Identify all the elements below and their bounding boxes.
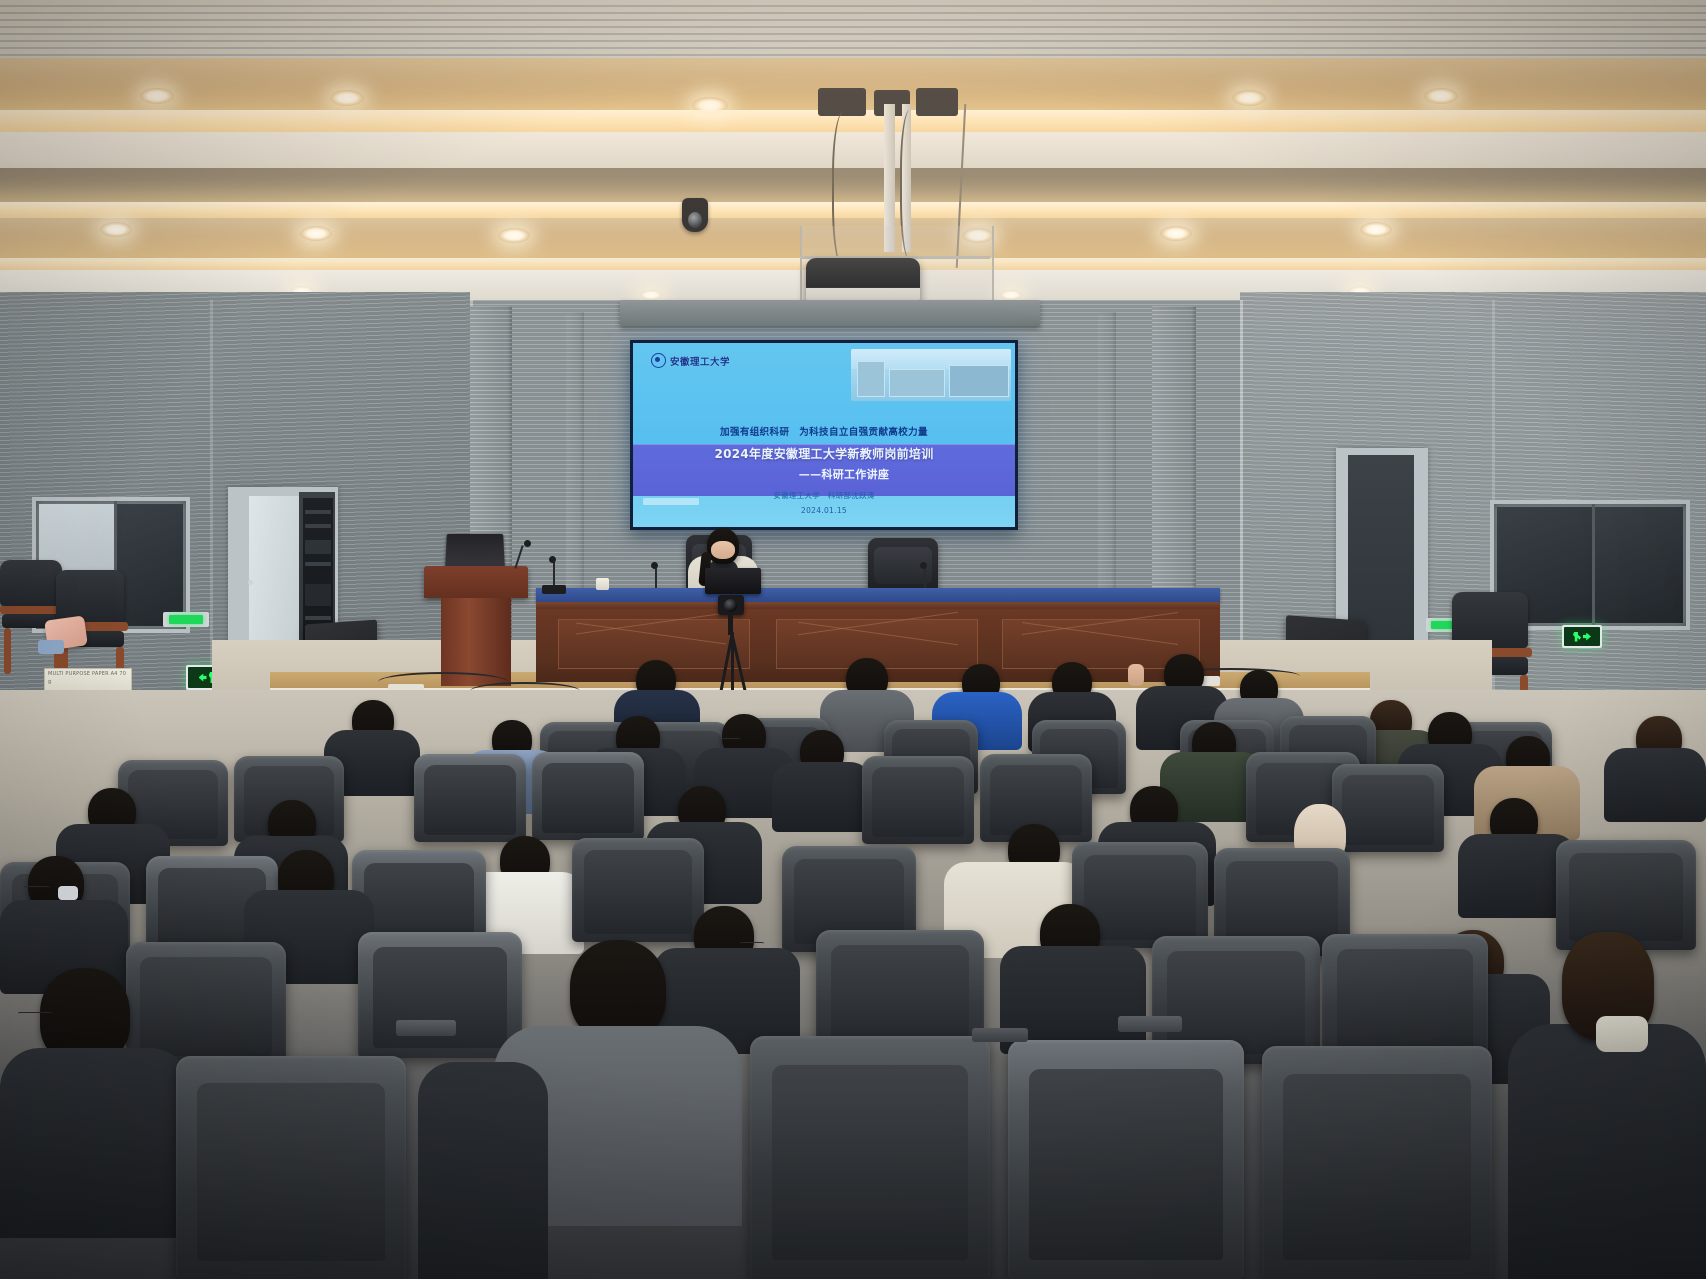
logo-emblem-icon	[651, 353, 666, 368]
auditorium-seat[interactable]	[358, 932, 522, 1058]
logo-text: 安徽理工大学	[670, 354, 730, 368]
audience-body	[772, 762, 872, 832]
downlight	[640, 290, 662, 300]
downlight	[1360, 222, 1392, 237]
desk-microphone	[924, 566, 926, 588]
window-pane	[1595, 507, 1683, 623]
window-pane	[117, 504, 183, 626]
downlight	[100, 222, 132, 237]
auditorium-seat[interactable]	[1332, 764, 1444, 852]
table-cloth-top	[536, 588, 1220, 602]
university-logo: 安徽理工大学	[651, 353, 730, 368]
video-camera	[718, 595, 744, 615]
auditorium-seat[interactable]	[176, 1056, 406, 1279]
slide-tagline: 加强有组织科研 为科技自立自强贡献高校力量	[633, 424, 1015, 438]
auditorium-seat[interactable]	[1262, 1046, 1492, 1279]
table-edge	[536, 602, 1220, 609]
window-mullion	[1592, 504, 1595, 626]
podium-laptop[interactable]	[445, 534, 505, 569]
podium-desk	[424, 566, 528, 598]
face-mask	[58, 886, 78, 900]
auditorium-seat[interactable]	[572, 838, 704, 942]
desk-microphone	[553, 560, 555, 588]
running-man-icon	[1573, 632, 1581, 642]
eyeglasses	[740, 942, 764, 947]
downlight	[1232, 90, 1266, 106]
auditorium-seat[interactable]	[414, 754, 526, 842]
table-chair-right[interactable]	[868, 538, 938, 592]
collar	[1596, 1016, 1648, 1052]
microphone-head-icon	[549, 556, 556, 563]
eyeglasses	[722, 738, 740, 743]
downlight	[330, 90, 364, 106]
microphone-head-icon	[920, 562, 927, 569]
cup	[596, 578, 609, 590]
screen-valance	[620, 300, 1040, 326]
slide-title: 2024年度安徽理工大学新教师岗前培训	[633, 445, 1015, 462]
photo-building	[949, 365, 1009, 397]
wall-seam	[210, 300, 213, 698]
desk-microphone	[655, 566, 657, 588]
security-camera-icon	[682, 198, 708, 232]
audience-body	[418, 1062, 548, 1279]
door-handle[interactable]	[248, 580, 253, 585]
microphone-head-icon	[524, 540, 531, 547]
auditorium-seat[interactable]	[1322, 934, 1488, 1062]
wall-socket-left[interactable]	[163, 612, 209, 627]
downlight	[1424, 88, 1458, 104]
slide-date: 2024.01.15	[633, 506, 1015, 515]
photo-building	[889, 369, 945, 397]
projection-screen: 安徽理工大学 加强有组织科研 为科技自立自强贡献高校力量 2024年度安徽理工大…	[630, 340, 1018, 530]
audience-body	[1604, 748, 1706, 822]
auditorium-seat[interactable]	[1008, 1040, 1244, 1279]
speaker-face	[711, 541, 735, 559]
audience-head	[570, 940, 666, 1040]
exit-arrow-icon	[199, 674, 207, 682]
auditorium-seat[interactable]	[862, 756, 974, 844]
audience-body	[0, 1048, 190, 1238]
downlight	[498, 228, 530, 243]
microphone-head-icon	[651, 562, 658, 569]
downlight	[1000, 290, 1022, 300]
seat-armrest	[396, 1020, 456, 1036]
socket-indicator	[169, 615, 202, 624]
slide-presenter: 安徽理工大学 科研部沈跃涛	[633, 490, 1015, 501]
raised-hand	[1128, 664, 1144, 686]
item-on-chair	[38, 640, 64, 654]
slide-title-band: 2024年度安徽理工大学新教师岗前培训 ——科研工作讲座	[633, 444, 1015, 496]
exit-sign-right	[1562, 625, 1602, 648]
audience-body	[1508, 1024, 1706, 1279]
seat-armrest	[972, 1028, 1028, 1042]
photo-building	[857, 361, 885, 397]
slide-subtitle: ——科研工作讲座	[633, 466, 1015, 482]
eyeglasses	[18, 1012, 52, 1017]
downlight	[692, 97, 728, 114]
carton-label: MULTI PURPOSE PAPER A4 70 g	[45, 669, 131, 688]
eyeglasses	[24, 886, 50, 891]
downlight	[300, 226, 332, 241]
lecture-hall-photo: 安徽理工大学 加强有组织科研 为科技自立自强贡献高校力量 2024年度安徽理工大…	[0, 0, 1706, 1279]
projector-mount-box	[916, 88, 958, 116]
slide-campus-photo	[851, 349, 1011, 401]
ceiling-slat-panel	[0, 0, 1706, 58]
presentation-slide: 安徽理工大学 加强有组织科研 为科技自立自强贡献高校力量 2024年度安徽理工大…	[633, 343, 1015, 527]
auditorium-seat[interactable]	[750, 1036, 990, 1279]
seat-armrest	[1118, 1016, 1182, 1032]
auditorium-seat[interactable]	[532, 752, 644, 840]
downlight	[140, 88, 174, 104]
mic-base	[542, 585, 566, 594]
exit-arrow-icon	[1583, 633, 1591, 641]
speaker-laptop[interactable]	[705, 568, 761, 594]
downlight	[1160, 226, 1192, 241]
